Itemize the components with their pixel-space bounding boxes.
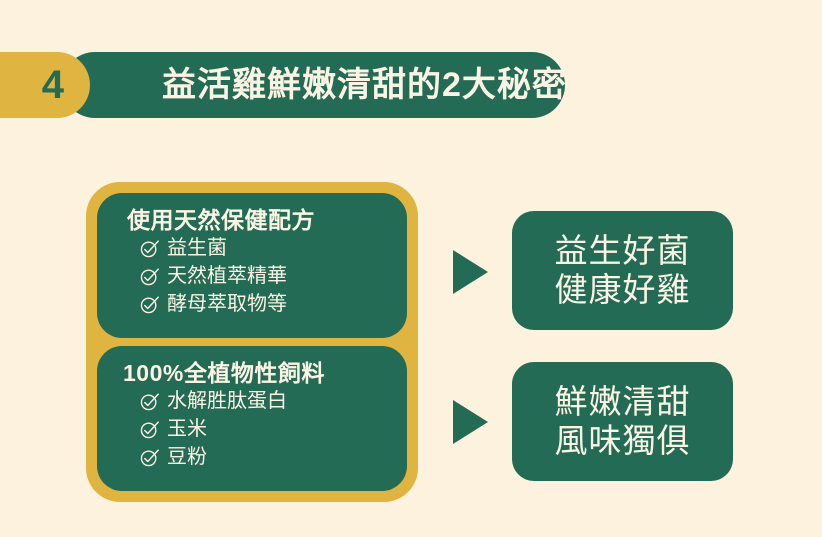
list-item: 玉米 — [139, 416, 391, 443]
panel-heading: 使用天然保健配方 — [127, 207, 391, 233]
check-circle-icon — [139, 391, 160, 412]
bullet-list: 水解胜肽蛋白 玉米 — [115, 388, 391, 471]
list-item-label: 益生菌 — [167, 235, 227, 262]
result-line-1: 益生好菌 — [555, 232, 691, 271]
check-circle-icon — [139, 294, 160, 315]
check-circle-icon — [139, 447, 160, 468]
header-bar: 益活雞鮮嫩清甜的2大秘密 — [62, 52, 565, 118]
list-item: 酵母萃取物等 — [139, 291, 391, 318]
result-box-flavor: 鮮嫩清甜 風味獨俱 — [512, 362, 733, 481]
section-number-badge: 4 — [0, 52, 90, 118]
page-title: 益活雞鮮嫩清甜的2大秘密 — [162, 68, 567, 102]
result-line-2: 風味獨俱 — [555, 422, 691, 461]
list-item: 益生菌 — [139, 235, 391, 262]
result-line-1: 鮮嫩清甜 — [555, 383, 691, 422]
list-item: 水解胜肽蛋白 — [139, 388, 391, 415]
panel-heading: 100%全植物性飼料 — [123, 360, 391, 386]
triangle-right-icon — [453, 400, 488, 444]
list-item-label: 豆粉 — [167, 444, 207, 471]
ingredient-panel-natural-formula: 使用天然保健配方 益生菌 — [97, 193, 407, 338]
list-item-label: 酵母萃取物等 — [167, 291, 287, 318]
list-item-label: 玉米 — [167, 416, 207, 443]
ingredient-panel-plant-feed: 100%全植物性飼料 水解胜肽蛋白 — [97, 346, 407, 491]
list-item: 豆粉 — [139, 444, 391, 471]
section-number: 4 — [42, 65, 64, 105]
infographic-page: 益活雞鮮嫩清甜的2大秘密 4 使用天然保健配方 益生菌 — [0, 0, 822, 537]
header: 益活雞鮮嫩清甜的2大秘密 4 — [0, 52, 600, 118]
check-circle-icon — [139, 419, 160, 440]
result-line-2: 健康好雞 — [555, 271, 691, 310]
check-circle-icon — [139, 266, 160, 287]
list-item-label: 天然植萃精華 — [167, 263, 287, 290]
check-circle-icon — [139, 238, 160, 259]
triangle-right-icon — [453, 250, 488, 294]
bullet-list: 益生菌 天然植萃精華 — [115, 235, 391, 318]
result-box-probiotics: 益生好菌 健康好雞 — [512, 211, 733, 330]
list-item: 天然植萃精華 — [139, 263, 391, 290]
list-item-label: 水解胜肽蛋白 — [167, 388, 287, 415]
ingredients-frame: 使用天然保健配方 益生菌 — [86, 182, 418, 502]
